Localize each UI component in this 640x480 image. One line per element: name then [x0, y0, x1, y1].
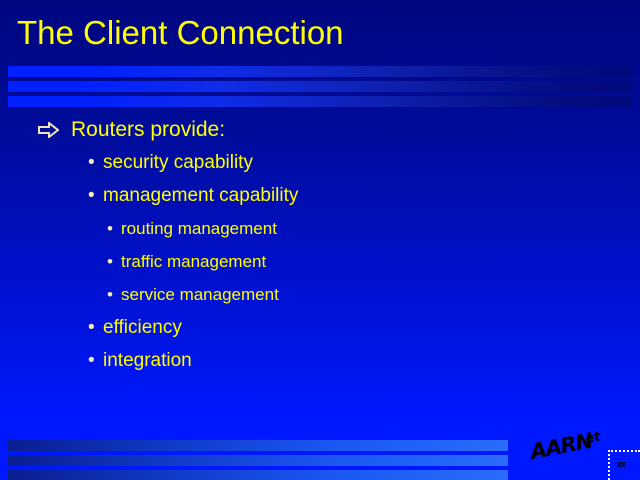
decor-bar: [8, 455, 508, 466]
bullet-item-level3: • traffic management: [0, 245, 640, 278]
bullet-text: integration: [103, 350, 192, 371]
bullet-item-level2: • management capability: [0, 179, 640, 212]
bullet-text: service management: [121, 285, 279, 304]
decor-bar: [8, 440, 508, 451]
slide-canvas: The Client Connection Routers provide: •…: [0, 0, 640, 480]
bullet-dot-icon: •: [107, 245, 113, 278]
bullet-item-level2: • efficiency: [0, 311, 640, 344]
bullet-text: routing management: [121, 219, 277, 238]
bullet-item-level3: • service management: [0, 278, 640, 311]
aarnet-logo: AARN et: [533, 430, 605, 464]
slide-number-placeholder: xx: [608, 450, 640, 480]
bullet-dot-icon: •: [88, 179, 95, 212]
decor-bar: [8, 66, 632, 77]
arrow-right-icon: [38, 122, 59, 138]
bullet-text: security capability: [103, 152, 253, 173]
bullet-text: traffic management: [121, 252, 266, 271]
bullet-item-level1: Routers provide:: [0, 113, 640, 146]
bullet-text: efficiency: [103, 317, 182, 338]
decor-bar: [8, 96, 632, 107]
bottom-decor-bars: [8, 440, 508, 480]
slide-number-text: xx: [617, 459, 625, 469]
bullet-text: management capability: [103, 185, 298, 206]
bullet-item-level2: • integration: [0, 344, 640, 377]
top-decor-bars: [8, 66, 632, 107]
slide-title: The Client Connection: [17, 14, 344, 52]
bullet-dot-icon: •: [107, 212, 113, 245]
bullet-dot-icon: •: [88, 311, 95, 344]
bullet-item-level2: • security capability: [0, 146, 640, 179]
bullet-text: Routers provide:: [71, 118, 225, 141]
slide-body: Routers provide: • security capability •…: [0, 113, 640, 377]
aarnet-logo-suffix: et: [584, 429, 602, 447]
bullet-dot-icon: •: [88, 344, 95, 377]
decor-bar: [8, 81, 632, 92]
bullet-item-level3: • routing management: [0, 212, 640, 245]
decor-bar: [8, 470, 508, 480]
bullet-dot-icon: •: [107, 278, 113, 311]
bullet-dot-icon: •: [88, 146, 95, 179]
